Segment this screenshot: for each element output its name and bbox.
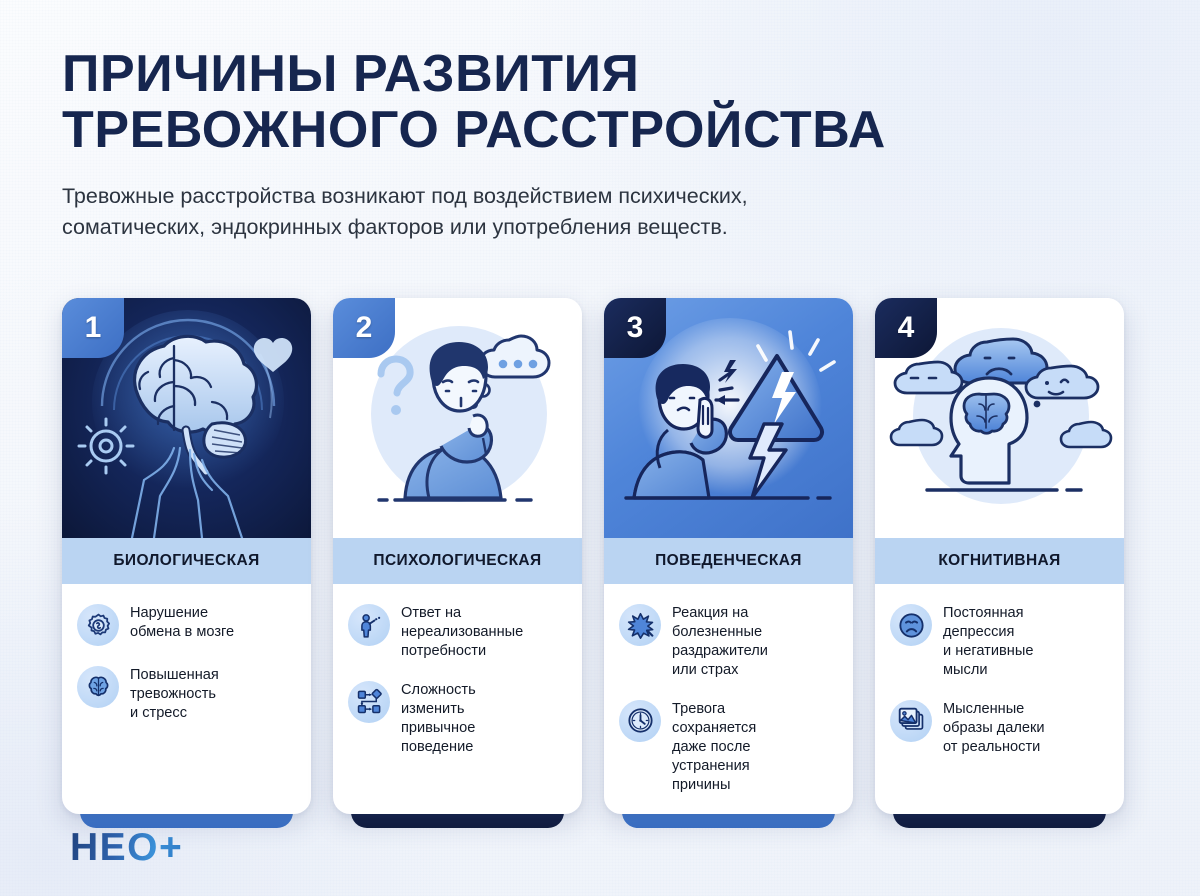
bullet-item: Повышенная тревожность и стресс [77,665,297,723]
cause-card-slot-3: 3 ПОВЕДЕНЧЕСКАЯ Реакция на болезненные [604,298,853,828]
bullet-text: Реакция на болезненные раздражители или … [672,603,768,680]
card-number-badge-1: 1 [62,298,124,358]
bullet-item: Сложность изменить привычное поведение [348,680,568,757]
bullet-text: Сложность изменить привычное поведение [401,680,476,757]
bullet-item: Реакция на болезненные раздражители или … [619,603,839,680]
page-subtitle-line-2: соматических, эндокринных факторов или у… [62,212,1022,243]
card-bullets-2: Ответ на нереализованные потребности [333,584,582,757]
card-number-badge-2: 2 [333,298,395,358]
bullet-text: Тревога сохраняется даже после устранени… [672,699,756,795]
flowchart-icon [348,681,390,723]
card-number-badge-3: 3 [604,298,666,358]
gear-brain-icon [77,604,119,646]
bullet-text: Повышенная тревожность и стресс [130,665,219,723]
cause-card-slot-2: 2 ПСИХОЛОГИЧЕСКАЯ Отве [333,298,582,828]
page-subtitle: Тревожные расстройства возникают под воз… [62,181,1022,243]
cause-card-2[interactable]: 2 ПСИХОЛОГИЧЕСКАЯ Отве [333,298,582,814]
cause-card-slot-1: 1 БИОЛОГИЧЕСКАЯ [62,298,311,828]
cause-card-slot-4: 4 КОГНИТИВНАЯ [875,298,1124,828]
page-title: ПРИЧИНЫ РАЗВИТИЯ ТРЕВОЖНОГО РАССТРОЙСТВА [62,46,1122,158]
page-title-line-1: ПРИЧИНЫ РАЗВИТИЯ [62,46,1122,102]
clock-icon [619,700,661,742]
cause-card-3[interactable]: 3 ПОВЕДЕНЧЕСКАЯ Реакция на болезненные [604,298,853,814]
bullet-item: Мысленные образы далеки от реальности [890,699,1110,757]
page-subtitle-line-1: Тревожные расстройства возникают под воз… [62,181,1022,212]
card-category-label-4: КОГНИТИВНАЯ [938,552,1060,570]
cause-cards-row: 1 БИОЛОГИЧЕСКАЯ [62,298,1140,828]
cause-card-1[interactable]: 1 БИОЛОГИЧЕСКАЯ [62,298,311,814]
page-title-line-2: ТРЕВОЖНОГО РАССТРОЙСТВА [62,102,1122,158]
bullet-item: Ответ на нереализованные потребности [348,603,568,661]
bullet-text: Нарушение обмена в мозге [130,603,234,642]
bullet-item: Нарушение обмена в мозге [77,603,297,646]
bullet-item: Тревога сохраняется даже после устранени… [619,699,839,795]
cause-card-4[interactable]: 4 КОГНИТИВНАЯ [875,298,1124,814]
card-art-1: 1 [62,298,311,538]
brand-logo: НЕО+ [70,826,183,870]
card-number-badge-4: 4 [875,298,937,358]
card-category-label-2: ПСИХОЛОГИЧЕСКАЯ [373,552,541,570]
sad-face-icon [890,604,932,646]
card-art-4: 4 [875,298,1124,538]
card-category-label-3: ПОВЕДЕНЧЕСКАЯ [655,552,802,570]
card-bullets-3: Реакция на болезненные раздражители или … [604,584,853,795]
card-category-band-1: БИОЛОГИЧЕСКАЯ [62,538,311,584]
burst-icon [619,604,661,646]
card-category-label-1: БИОЛОГИЧЕСКАЯ [113,552,259,570]
photos-icon [890,700,932,742]
person-raised-arm-icon [348,604,390,646]
card-bullets-4: Постоянная депрессия и негативные мысли [875,584,1124,757]
page-header: ПРИЧИНЫ РАЗВИТИЯ ТРЕВОЖНОГО РАССТРОЙСТВА… [62,46,1122,243]
card-category-band-2: ПСИХОЛОГИЧЕСКАЯ [333,538,582,584]
bullet-text: Ответ на нереализованные потребности [401,603,523,661]
card-bullets-1: Нарушение обмена в мозге [62,584,311,723]
bullet-item: Постоянная депрессия и негативные мысли [890,603,1110,680]
card-art-3: 3 [604,298,853,538]
card-category-band-3: ПОВЕДЕНЧЕСКАЯ [604,538,853,584]
card-category-band-4: КОГНИТИВНАЯ [875,538,1124,584]
bullet-text: Постоянная депрессия и негативные мысли [943,603,1033,680]
bullet-text: Мысленные образы далеки от реальности [943,699,1045,757]
brain-icon [77,666,119,708]
card-art-2: 2 [333,298,582,538]
